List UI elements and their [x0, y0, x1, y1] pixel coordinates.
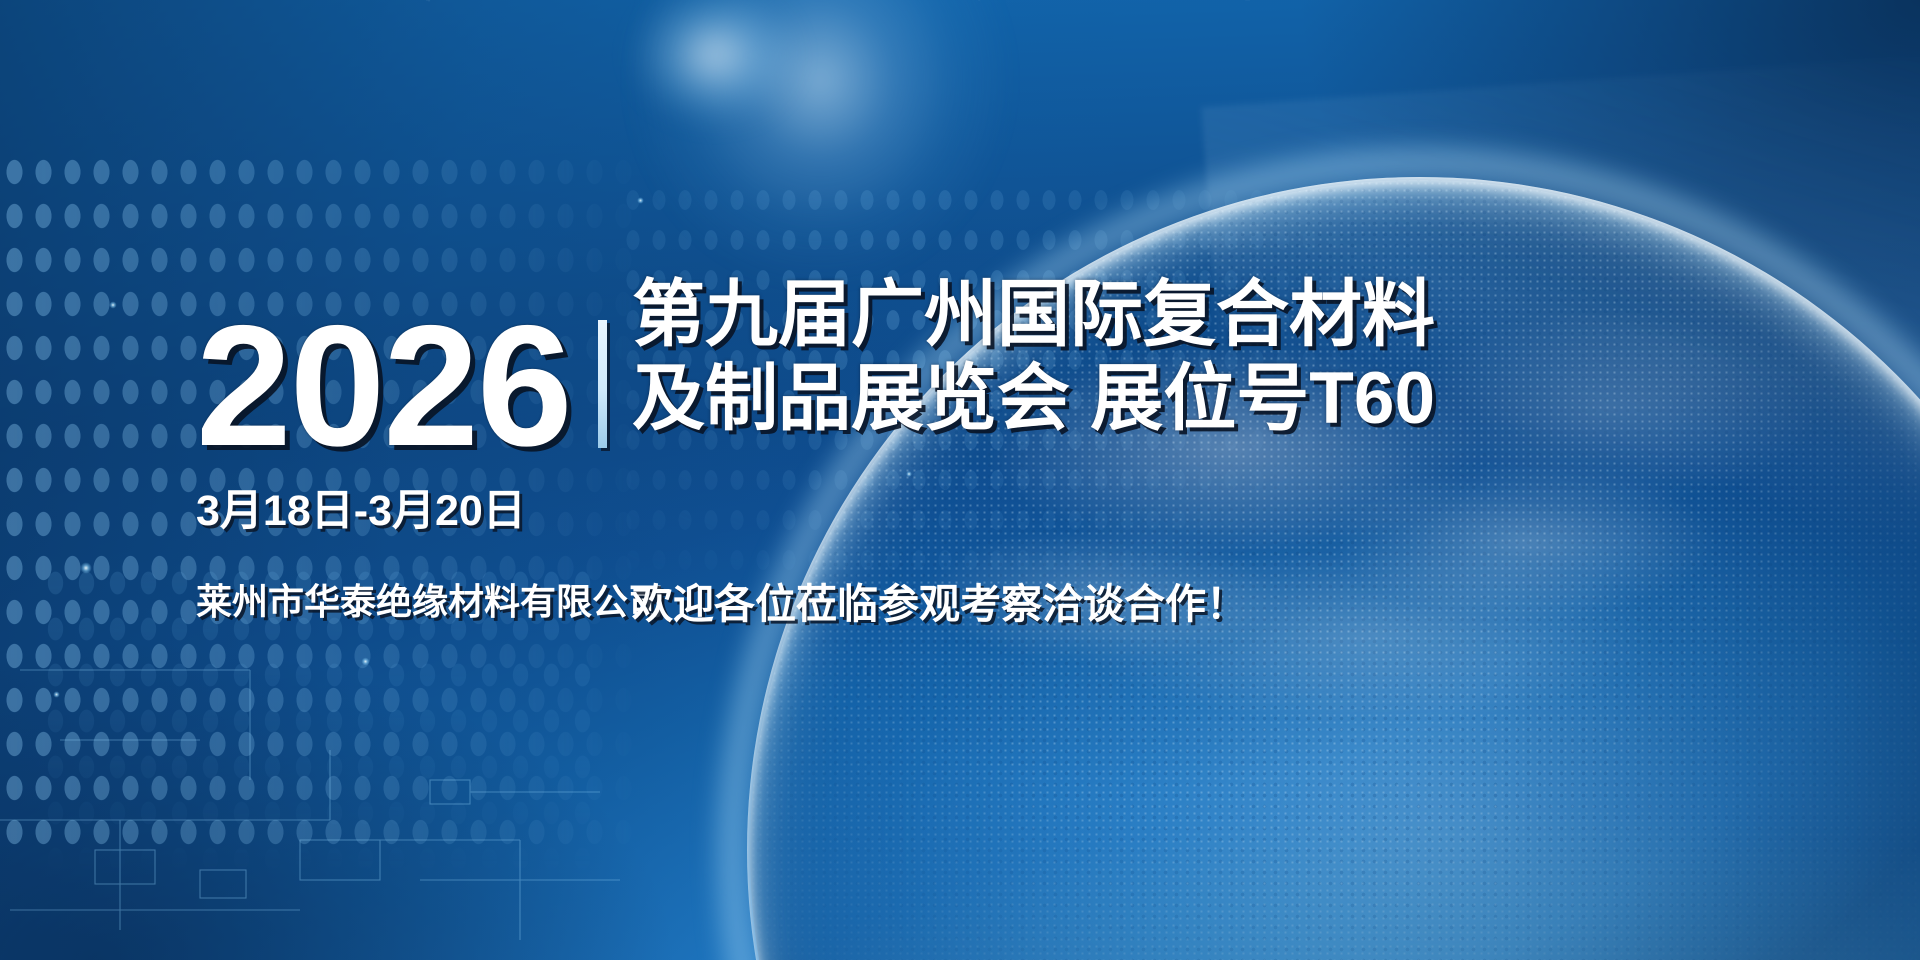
banner-content: 2026 3月18日-3月20日 第九届广州国际复合材料 及制品展览会 展位号T…	[0, 0, 1920, 960]
company-name: 莱州市华泰绝缘材料有限公司	[196, 573, 664, 625]
headline-line-1: 第九届广州国际复合材料	[632, 275, 1892, 355]
headline-line-2: 及制品展览会 展位号T60	[632, 359, 1892, 439]
welcome-message: 欢迎各位莅临参观考察洽谈合作！	[632, 570, 1247, 630]
exhibition-banner: 2026 3月18日-3月20日 第九届广州国际复合材料 及制品展览会 展位号T…	[0, 0, 1920, 960]
event-year: 2026	[196, 300, 616, 472]
event-dates: 3月18日-3月20日	[196, 488, 616, 535]
left-text-block: 2026 3月18日-3月20日	[196, 300, 616, 535]
vertical-divider	[598, 320, 607, 448]
event-headline: 第九届广州国际复合材料 及制品展览会 展位号T60	[632, 275, 1892, 440]
